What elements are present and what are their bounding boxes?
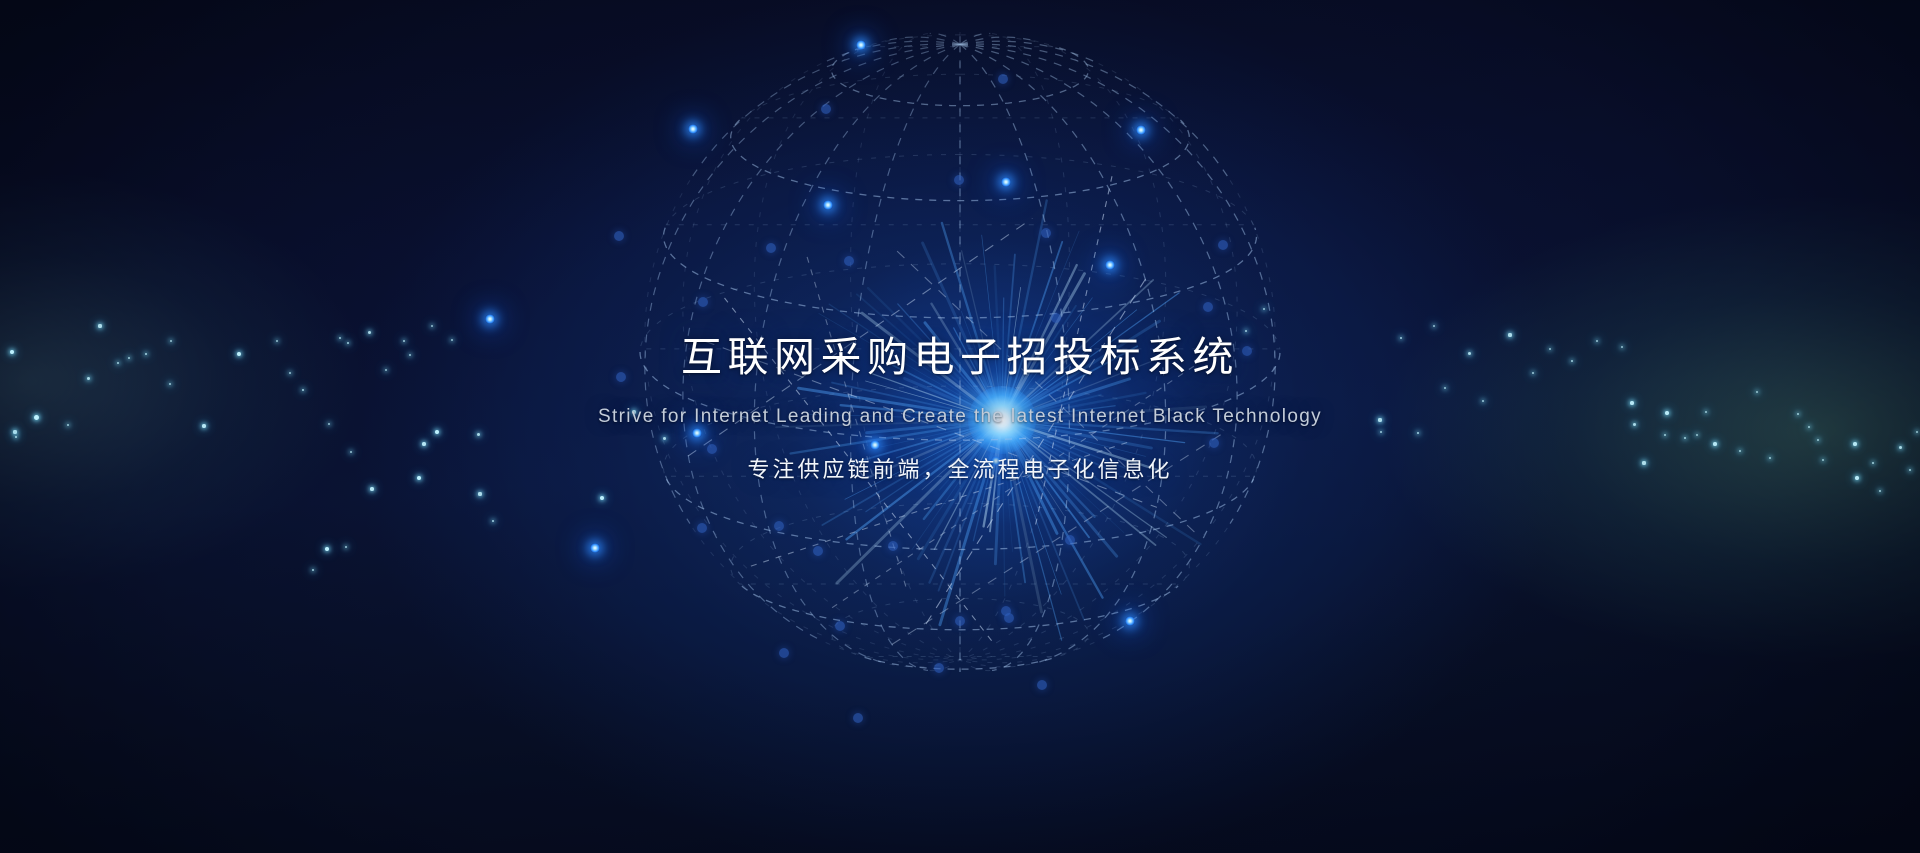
- globe-node: [614, 231, 624, 241]
- globe-node: [853, 713, 863, 723]
- globe-node: [485, 314, 495, 324]
- sparkle-particle: [312, 569, 315, 572]
- sparkle-particle: [431, 325, 433, 327]
- sparkle-particle: [1879, 490, 1881, 492]
- sparkle-particle: [370, 487, 374, 491]
- hero-tagline: 专注供应链前端，全流程电子化信息化: [0, 452, 1920, 484]
- hero-text-block: 互联网采购电子招投标系统 Strive for Internet Leading…: [0, 333, 1920, 484]
- sparkle-particle: [345, 546, 347, 548]
- sparkle-particle: [325, 547, 329, 551]
- sparkle-particle: [600, 496, 604, 500]
- sparkle-particle: [478, 492, 481, 495]
- hero-subtitle: Strive for Internet Leading and Create t…: [0, 406, 1920, 428]
- sparkle-particle: [1433, 325, 1435, 327]
- globe-node: [590, 543, 600, 553]
- page-title: 互联网采购电子招投标系统: [0, 333, 1920, 381]
- sparkle-particle: [492, 520, 495, 523]
- sparkle-particle: [98, 324, 101, 327]
- hero-banner: 互联网采购电子招投标系统 Strive for Internet Leading…: [0, 0, 1920, 853]
